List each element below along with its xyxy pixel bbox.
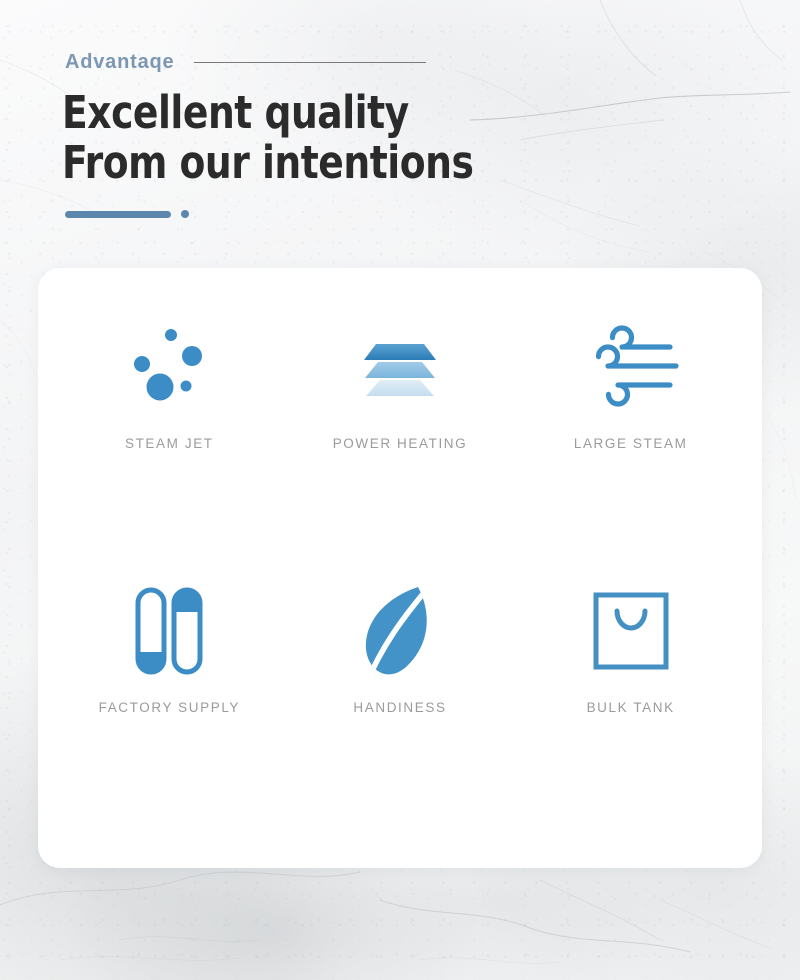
feature-item-bulk-tank: BULK TANK bbox=[515, 572, 746, 838]
steam-jet-dots-icon bbox=[126, 306, 212, 426]
feature-label-factory-supply: FACTORY SUPPLY bbox=[99, 700, 240, 715]
feature-item-factory-supply: FACTORY SUPPLY bbox=[54, 572, 285, 838]
feature-label-power-heating: POWER HEATING bbox=[333, 436, 468, 451]
power-heating-layers-icon bbox=[352, 306, 448, 426]
headline-line-1: Excellent quality bbox=[62, 88, 694, 138]
accent-underline bbox=[65, 210, 189, 218]
feature-item-steam-jet: STEAM JET bbox=[54, 306, 285, 572]
eyebrow-row: Advantaqe bbox=[65, 52, 465, 72]
page-title: Excellent quality From our intentions bbox=[62, 88, 742, 188]
advantage-banner: Advantaqe Excellent quality From our int… bbox=[0, 0, 800, 980]
eyebrow-label: Advantaqe bbox=[65, 52, 174, 72]
feature-item-power-heating: POWER HEATING bbox=[285, 306, 516, 572]
feature-label-steam-jet: STEAM JET bbox=[125, 436, 214, 451]
eyebrow-divider-rule bbox=[194, 62, 426, 63]
headline-line-2: From our intentions bbox=[62, 138, 694, 188]
accent-dot bbox=[181, 210, 189, 218]
feature-item-handiness: HANDINESS bbox=[285, 572, 516, 838]
feature-label-handiness: HANDINESS bbox=[353, 700, 446, 715]
factory-supply-tubes-icon bbox=[134, 572, 204, 690]
feature-label-large-steam: LARGE STEAM bbox=[574, 436, 688, 451]
feature-card: STEAM JET bbox=[38, 268, 762, 868]
accent-bar bbox=[65, 211, 171, 218]
feature-item-large-steam: LARGE STEAM bbox=[515, 306, 746, 572]
large-steam-wind-icon bbox=[584, 306, 678, 426]
handiness-leaf-icon bbox=[360, 572, 440, 690]
feature-label-bulk-tank: BULK TANK bbox=[587, 700, 675, 715]
bulk-tank-bag-icon bbox=[591, 572, 671, 690]
feature-grid: STEAM JET bbox=[38, 268, 762, 868]
